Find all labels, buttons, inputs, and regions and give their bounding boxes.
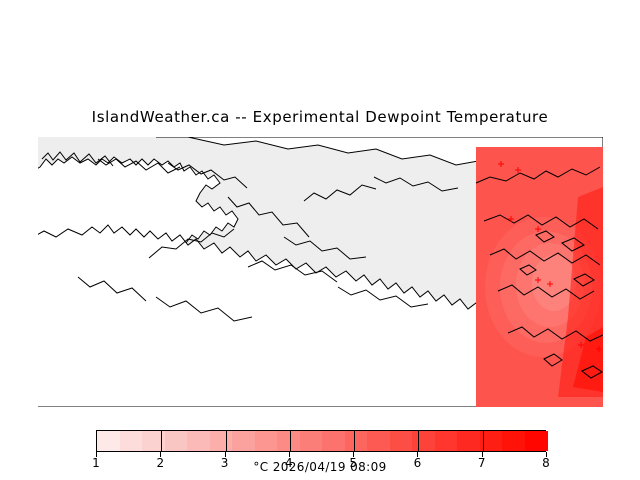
colorbar-divider — [483, 431, 484, 451]
weather-map-screenshot: IslandWeather.ca -- Experimental Dewpoin… — [0, 0, 640, 480]
colorbar-segment — [277, 431, 300, 451]
colorbar-segment — [120, 431, 143, 451]
colorbar-divider — [418, 431, 419, 451]
colorbar-segment — [390, 431, 413, 451]
colorbar-gradient — [96, 430, 546, 452]
colorbar-segment — [345, 431, 368, 451]
map-panel[interactable] — [38, 137, 603, 407]
colorbar-caption: °C 2026/04/19 08:09 — [0, 460, 640, 474]
colorbar-segment — [412, 431, 435, 451]
colorbar-segment — [210, 431, 233, 451]
colorbar-segment — [165, 431, 188, 451]
colorbar-segment — [255, 431, 278, 451]
colorbar-segment — [187, 431, 210, 451]
page-title: IslandWeather.ca -- Experimental Dewpoin… — [0, 108, 640, 126]
colorbar-divider — [290, 431, 291, 451]
colorbar-segment — [97, 431, 120, 451]
colorbar-segment — [457, 431, 480, 451]
colorbar-segment — [232, 431, 255, 451]
colorbar-segment — [502, 431, 525, 451]
colorbar-segment — [525, 431, 548, 451]
colorbar-divider — [226, 431, 227, 451]
colorbar-segment — [435, 431, 458, 451]
colorbar-segment — [367, 431, 390, 451]
colorbar-divider — [161, 431, 162, 451]
colorbar[interactable]: 12345678 — [96, 430, 546, 452]
colorbar-segment — [322, 431, 345, 451]
coastline-map — [38, 137, 603, 407]
colorbar-segment — [300, 431, 323, 451]
dewpoint-field — [476, 147, 603, 407]
colorbar-divider — [354, 431, 355, 451]
